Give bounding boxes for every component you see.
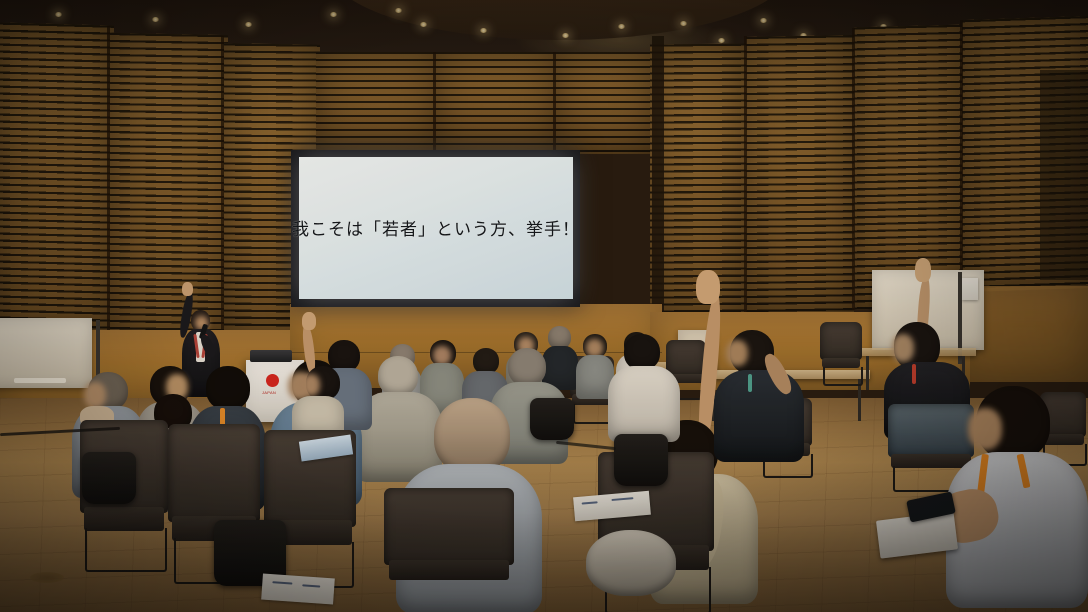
ceiling-light [562, 33, 569, 38]
raised-hand [302, 312, 316, 330]
ceiling-light [245, 22, 252, 27]
empty-chair [820, 322, 862, 384]
ceiling-light [718, 38, 725, 43]
chair-legs [823, 367, 864, 386]
chair-seat [389, 560, 509, 580]
torso [608, 366, 680, 442]
chair-back [384, 488, 514, 565]
table-leg [866, 356, 869, 390]
blurred-face [302, 374, 320, 396]
wall-seam [852, 28, 855, 310]
chair-legs [85, 528, 166, 572]
wall-seam [960, 20, 963, 294]
head [378, 356, 418, 396]
blurred-face [968, 408, 1002, 450]
blurred-face [84, 382, 106, 408]
presenter-hand [182, 282, 193, 296]
audience-member-white-shirt [608, 334, 680, 440]
ceiling-light [152, 17, 159, 22]
wall-seam [107, 26, 110, 344]
projection-screen: 我こそは「若者」という方、挙手！ [291, 150, 580, 307]
floor-outlet-plate [30, 572, 64, 583]
wall-seam [433, 52, 436, 152]
raised-hand [915, 258, 931, 282]
projection-screen-surface: 我こそは「若者」という方、挙手！ [299, 157, 573, 299]
lanyard [748, 374, 752, 392]
photo-scene: 我こそは「若者」という方、挙手！ [0, 0, 1088, 612]
paper-mark [611, 497, 633, 501]
head [586, 530, 676, 596]
wall-slat-panel [436, 52, 556, 152]
handout-paper [261, 574, 335, 605]
wall-slat-panel [746, 35, 854, 315]
backpack [82, 452, 136, 504]
audience-member-dark-hair [714, 330, 806, 460]
audience-member-polo-lanyard [946, 386, 1088, 612]
head [434, 398, 510, 474]
ceiling-light [680, 21, 687, 26]
wall-slat-panel [0, 22, 114, 341]
ceiling-light [55, 12, 62, 17]
paper-mark [272, 581, 292, 584]
lanyard [912, 364, 916, 384]
wall-slat-panel [316, 52, 436, 152]
paper-mark [582, 501, 598, 504]
paper-mark [302, 584, 320, 587]
raised-hand [696, 270, 720, 304]
ceiling-light [330, 12, 337, 17]
audience-member-foreground-right2 [586, 530, 682, 612]
slide-text: 我こそは「若者」という方、挙手！ [292, 215, 580, 240]
chair-back [820, 322, 862, 360]
whiteboard-tray [14, 378, 66, 383]
chair-back [168, 424, 260, 522]
backpack [614, 434, 668, 486]
ceiling-light [618, 24, 625, 29]
ceiling-light [480, 28, 487, 33]
ceiling-light [395, 8, 402, 13]
blurred-face [892, 334, 914, 362]
chair [384, 488, 514, 612]
ceiling-curve [330, 0, 790, 40]
head [206, 366, 250, 410]
wall-seam [553, 52, 556, 154]
head [508, 348, 546, 386]
wall-dark-recess [1040, 70, 1088, 280]
ceiling-light [760, 18, 767, 23]
wall-slat-panel [556, 52, 652, 154]
head [624, 334, 660, 370]
ceiling-light [420, 22, 427, 27]
blurred-face [726, 340, 748, 366]
audience-member-raised-hand-left [288, 318, 344, 428]
